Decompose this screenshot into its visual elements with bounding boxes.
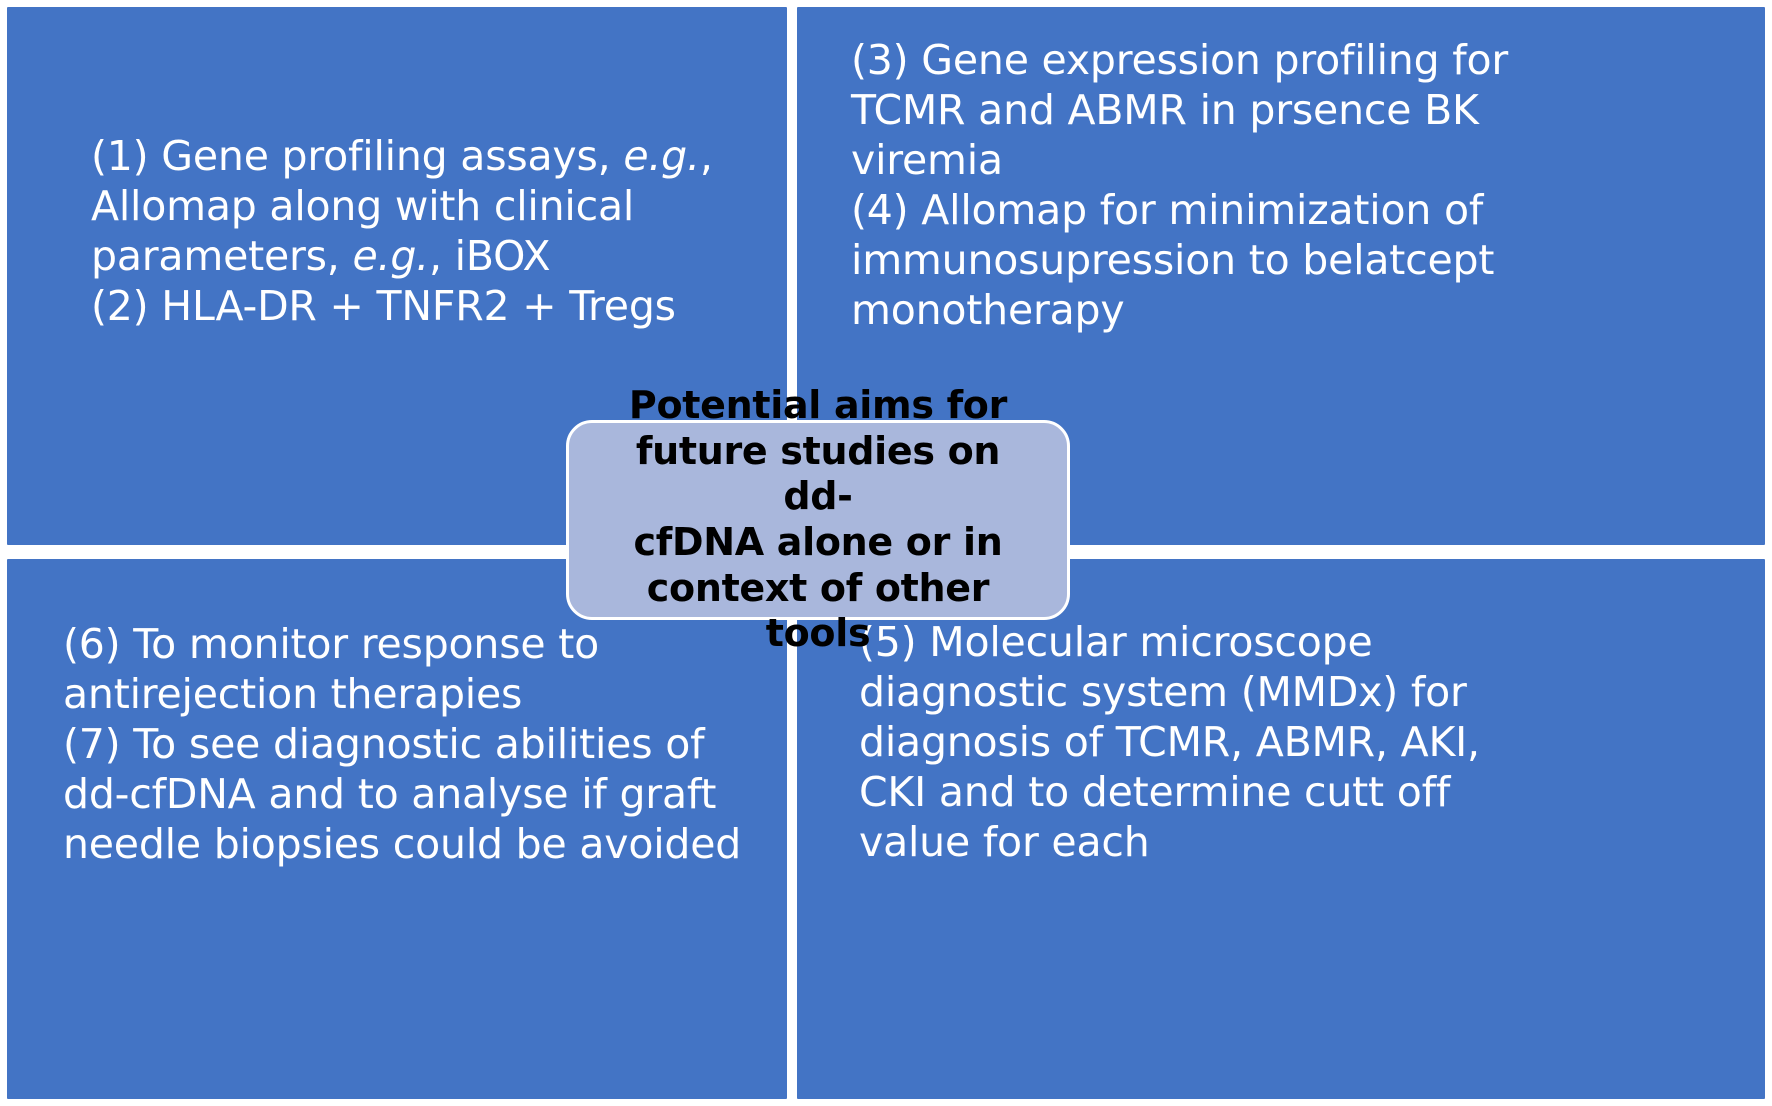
tl-line-1: (1) Gene profiling assays, e.g., [91, 132, 713, 180]
italic-eg: e.g. [623, 132, 700, 180]
tl-line-4: (2) HLA-DR + TNFR2 + Tregs [91, 282, 676, 330]
center-callout-label: Potential aims for future studies on dd-… [569, 383, 1067, 657]
quadrant-top-left-text: (1) Gene profiling assays, e.g.,Allomap … [91, 131, 751, 331]
tl-line-3: parameters, e.g., iBOX [91, 232, 550, 280]
diagram-canvas: (1) Gene profiling assays, e.g.,Allomap … [0, 0, 1772, 1106]
italic-eg-2: e.g. [352, 232, 429, 280]
quadrant-top-right-text: (3) Gene expression profiling for TCMR a… [851, 35, 1761, 335]
center-callout-box: Potential aims for future studies on dd-… [566, 420, 1070, 620]
tl-line-2: Allomap along with clinical [91, 182, 634, 230]
